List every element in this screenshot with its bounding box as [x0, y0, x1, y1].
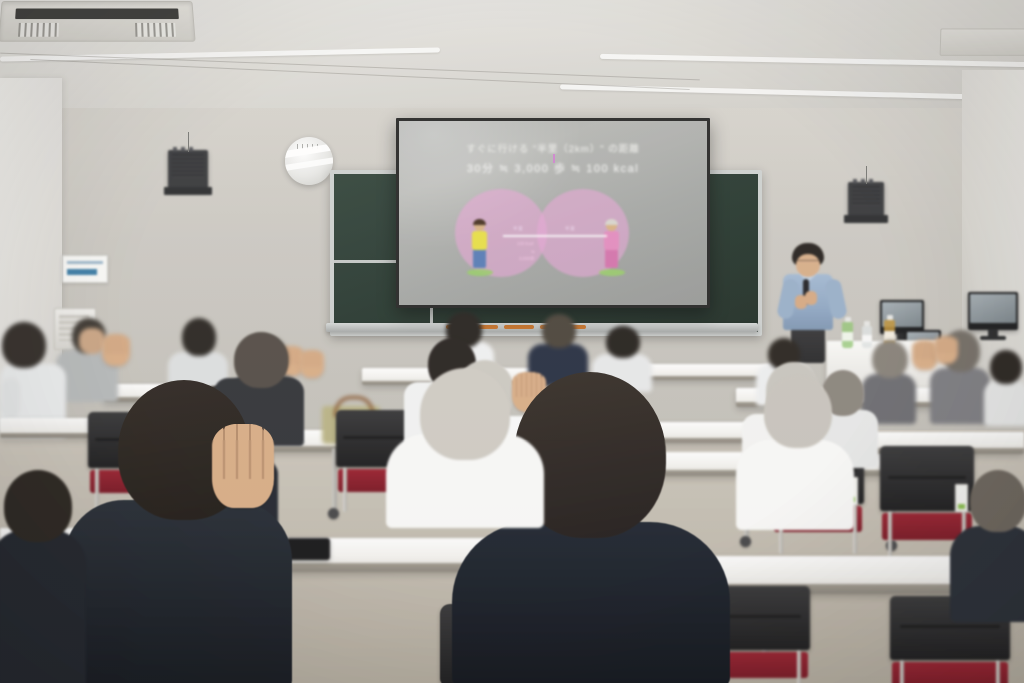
air-conditioner-vent	[0, 1, 196, 42]
slide-figure-walking-woman	[601, 220, 623, 272]
slide-title: すぐに行ける "半里（2km）" の距離	[399, 141, 707, 155]
slide-note-approx: ≒	[531, 249, 535, 255]
speaker-left-icon	[168, 150, 208, 190]
clapping-hand	[934, 336, 958, 364]
slide-illustration: 半里 半里 100 kcal ≒ 3,000歩	[455, 189, 645, 277]
table-caster	[740, 536, 751, 547]
speaker-wire-right	[866, 166, 867, 184]
person-front-white	[386, 368, 546, 518]
slide-arrow-label-left: 半里	[513, 226, 523, 232]
lecture-hall-photo: すぐに行ける "半里（2km）" の距離 30分 ≒ 3,000 歩 ≒ 100…	[0, 0, 1024, 683]
wall-sign	[62, 255, 108, 283]
air-vent-secondary	[940, 28, 1024, 55]
slide-note-steps: 3,000歩	[519, 256, 534, 262]
slide-figure-walking-man	[469, 220, 491, 272]
slide-subtitle: 30分 ≒ 3,000 歩 ≒ 100 kcal	[399, 160, 707, 176]
ceiling	[0, 0, 1024, 118]
person-front-edge-left	[0, 470, 86, 683]
clapping-hand-front	[212, 424, 274, 508]
person-right-2	[984, 350, 1024, 424]
person-front-far-right	[950, 470, 1024, 620]
slide-note-kcal: 100 kcal	[517, 241, 533, 246]
projection-screen: すぐに行ける "半里（2km）" の距離 30分 ≒ 3,000 歩 ≒ 100…	[396, 118, 710, 308]
table-caster	[328, 508, 339, 519]
person-front-left	[64, 380, 294, 680]
slide-arrow-right	[555, 235, 607, 237]
speaker-wire	[188, 132, 189, 152]
slide-arrow-left	[503, 235, 555, 237]
person-front-right	[736, 376, 856, 526]
speaker-right-icon	[848, 182, 884, 218]
monitor-far-right	[968, 292, 1018, 330]
wall-clock-icon	[285, 137, 333, 185]
slide-arrow-label-right: 半里	[565, 226, 575, 232]
clapping-hand	[102, 334, 130, 366]
